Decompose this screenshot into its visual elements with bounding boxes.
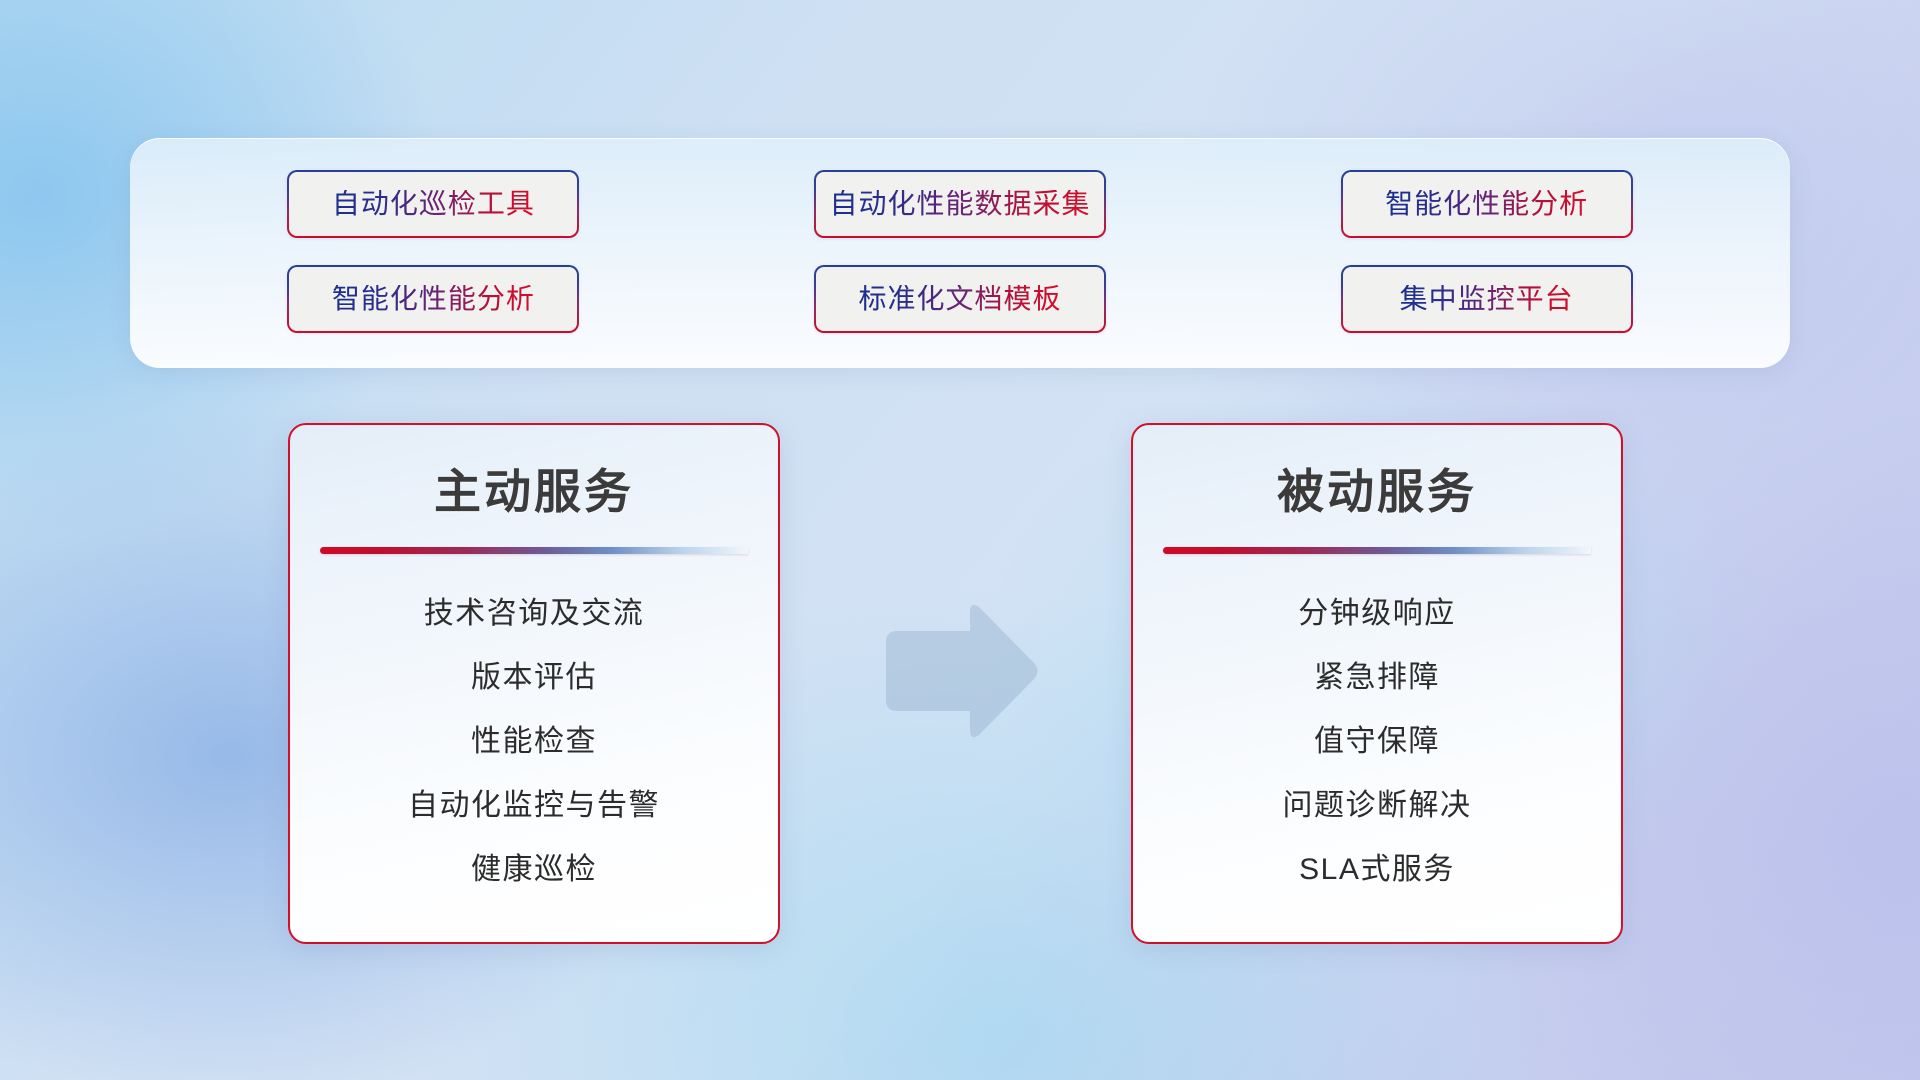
card-title-active: 主动服务 bbox=[290, 453, 778, 522]
arrow-right-icon bbox=[882, 600, 1040, 742]
tag-label: 标准化文档模板 bbox=[858, 285, 1061, 313]
service-list-passive: 分钟级响应 紧急排障 值守保障 问题诊断解决 SLA式服务 bbox=[1133, 554, 1621, 902]
tag-label: 集中监控平台 bbox=[1400, 285, 1574, 313]
list-item[interactable]: 问题诊断解决 bbox=[1133, 774, 1621, 838]
capability-tag-standardized-document-template[interactable]: 标准化文档模板 bbox=[814, 265, 1106, 333]
capability-tag-automated-performance-data-collection[interactable]: 自动化性能数据采集 bbox=[814, 170, 1106, 238]
card-divider-passive bbox=[1163, 547, 1591, 554]
list-item[interactable]: 分钟级响应 bbox=[1133, 582, 1621, 646]
capability-tag-grid: 自动化巡检工具 自动化性能数据采集 智能化性能分析 智能化性能分析 标准化文档模… bbox=[130, 138, 1790, 368]
list-item[interactable]: 值守保障 bbox=[1133, 710, 1621, 774]
capability-tag-intelligent-performance-analysis-2[interactable]: 智能化性能分析 bbox=[287, 265, 579, 333]
capability-tag-intelligent-performance-analysis-1[interactable]: 智能化性能分析 bbox=[1341, 170, 1633, 238]
capability-tag-centralized-monitoring-platform[interactable]: 集中监控平台 bbox=[1341, 265, 1633, 333]
service-card-passive[interactable]: 被动服务 分钟级响应 紧急排障 值守保障 问题诊断解决 SLA式服务 bbox=[1131, 423, 1623, 944]
service-list-active: 技术咨询及交流 版本评估 性能检查 自动化监控与告警 健康巡检 bbox=[290, 554, 778, 902]
tag-label: 智能化性能分析 bbox=[1385, 190, 1588, 218]
list-item[interactable]: 自动化监控与告警 bbox=[290, 774, 778, 838]
list-item[interactable]: 紧急排障 bbox=[1133, 646, 1621, 710]
capability-tag-automated-inspection-tool[interactable]: 自动化巡检工具 bbox=[287, 170, 579, 238]
list-item[interactable]: 技术咨询及交流 bbox=[290, 582, 778, 646]
service-card-active[interactable]: 主动服务 技术咨询及交流 版本评估 性能检查 自动化监控与告警 健康巡检 bbox=[288, 423, 780, 944]
card-divider-active bbox=[320, 547, 748, 554]
list-item[interactable]: SLA式服务 bbox=[1133, 838, 1621, 902]
tag-label: 自动化巡检工具 bbox=[332, 190, 535, 218]
tag-label: 自动化性能数据采集 bbox=[829, 190, 1090, 218]
capability-panel: 自动化巡检工具 自动化性能数据采集 智能化性能分析 智能化性能分析 标准化文档模… bbox=[130, 138, 1790, 368]
list-item[interactable]: 版本评估 bbox=[290, 646, 778, 710]
card-title-passive: 被动服务 bbox=[1133, 453, 1621, 522]
tag-label: 智能化性能分析 bbox=[332, 285, 535, 313]
list-item[interactable]: 性能检查 bbox=[290, 710, 778, 774]
list-item[interactable]: 健康巡检 bbox=[290, 838, 778, 902]
